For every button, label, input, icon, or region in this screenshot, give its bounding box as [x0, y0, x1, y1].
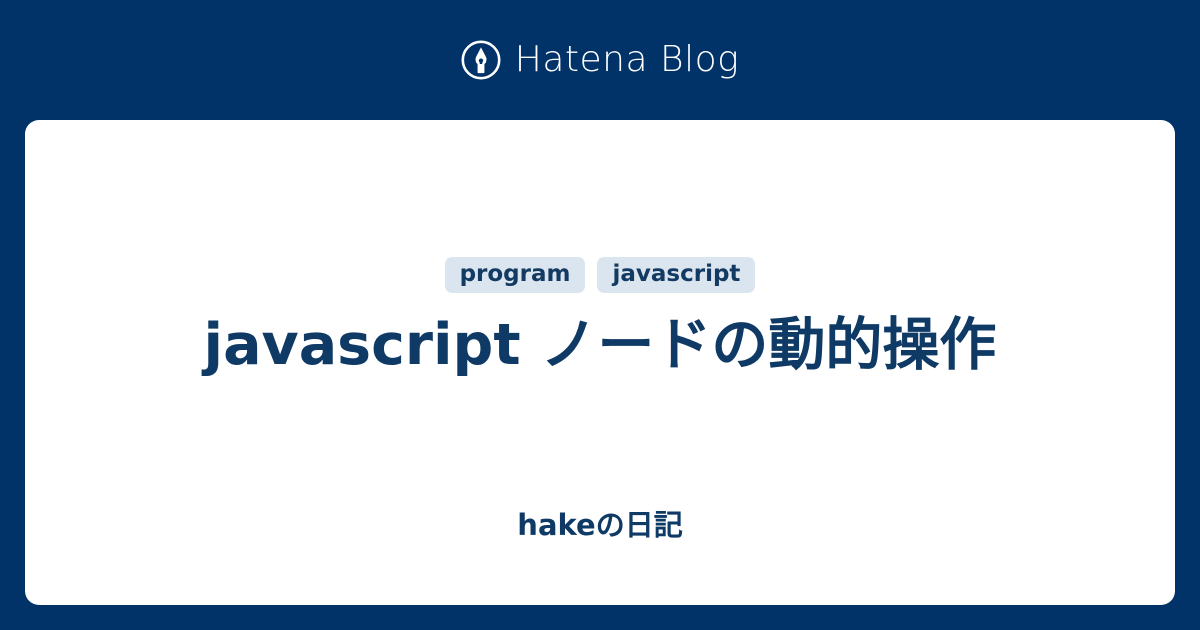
hatena-blog-brand: Hatena Blog: [0, 0, 1200, 120]
entry-tag-program[interactable]: program: [445, 257, 586, 294]
brand-name: Hatena Blog: [515, 42, 739, 78]
entry-title: javascript ノードの動的操作: [184, 312, 1017, 379]
entry-tag-javascript[interactable]: javascript: [597, 257, 755, 294]
share-card: Hatena Blog program javascript javascrip…: [0, 0, 1200, 630]
blog-name[interactable]: hakeの日記: [25, 508, 1175, 543]
hatena-blog-pen-nib-icon: [461, 40, 501, 80]
entry-card: program javascript javascript ノードの動的操作 h…: [25, 120, 1175, 605]
entry-tag-list: program javascript: [445, 256, 756, 294]
